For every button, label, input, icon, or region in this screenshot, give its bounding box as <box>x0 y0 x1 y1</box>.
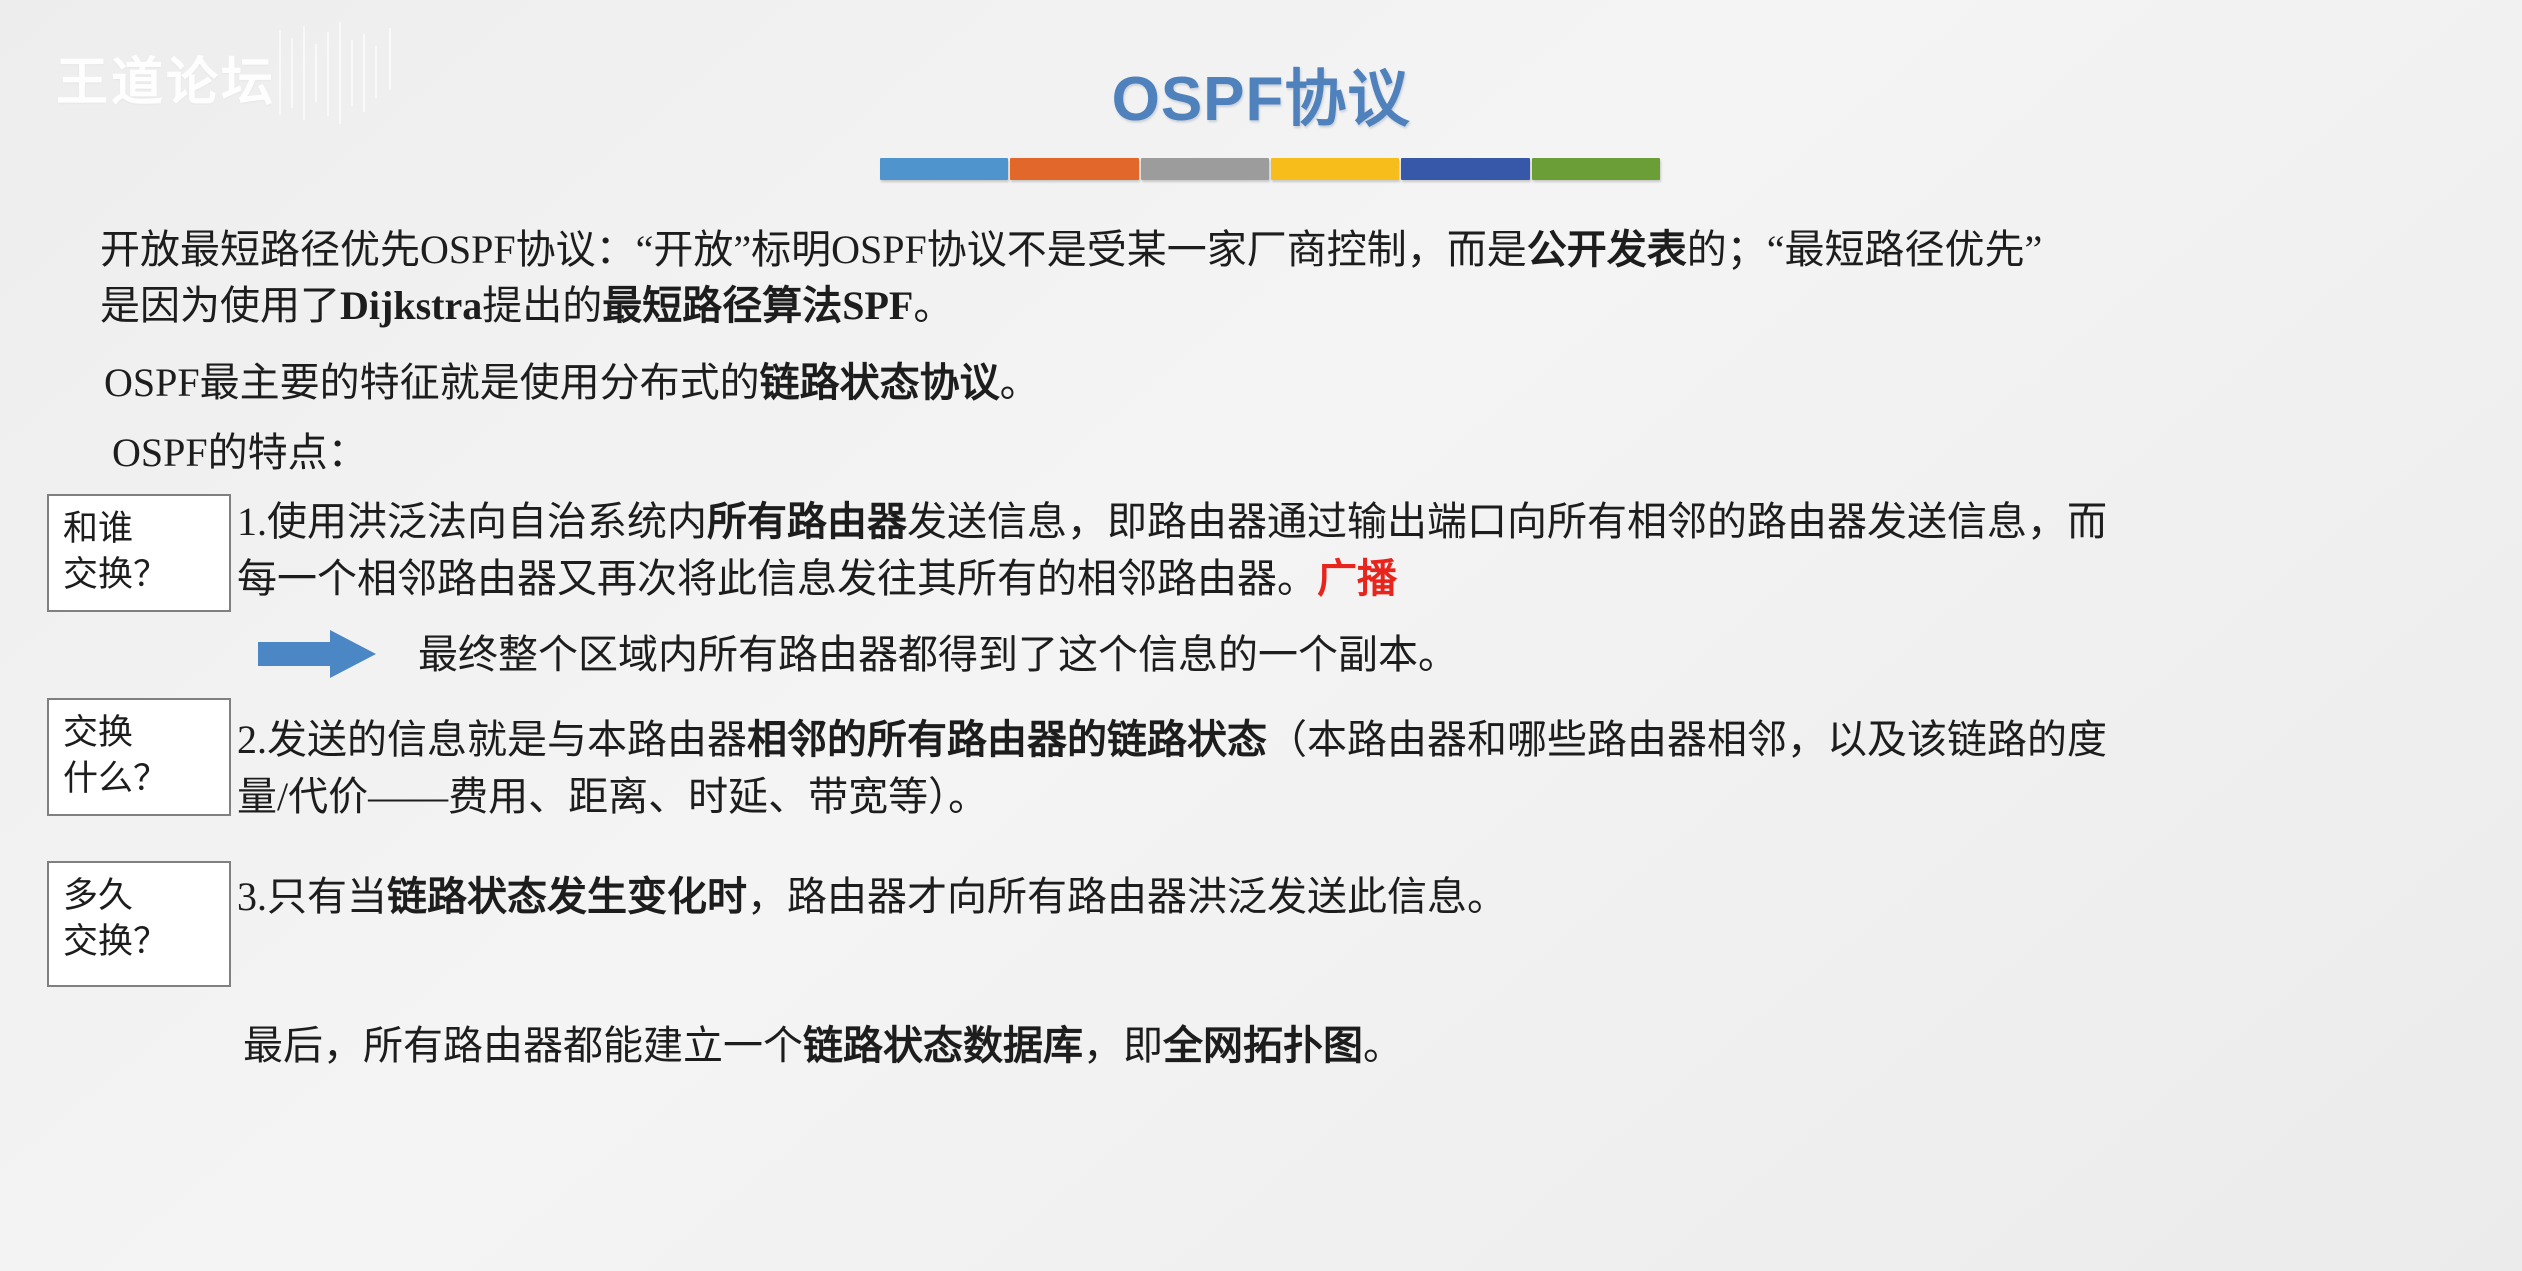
intro-line-1-part-a: 开放最短路径优先OSPF协议：“开放”标明OSPF协议不是受某一家厂商控制，而是 <box>100 227 1527 272</box>
intro-line-3-part-b: 。 <box>1000 360 1040 405</box>
point-3-line-1-part-b: ，路由器才向所有路由器洪泛发送此信息。 <box>747 874 1507 919</box>
point-3-number: 3. <box>237 874 267 919</box>
point-3-line-1-bold: 链路状态发生变化时 <box>387 874 747 919</box>
question-box-when-line-1: 多久 <box>63 873 217 919</box>
question-box-when: 多久 交换？ <box>47 861 231 987</box>
conclusion-bold-topology: 全网拓扑图 <box>1163 1023 1363 1068</box>
intro-line-3: OSPF最主要的特征就是使用分布式的链路状态协议。 <box>104 355 1040 412</box>
question-box-who: 和谁 交换？ <box>47 494 231 612</box>
point-1-highlight-broadcast: 广播 <box>1317 556 1397 601</box>
intro-line-2-bold-spf: 最短路径算法SPF <box>602 283 913 328</box>
question-box-who-line-1: 和谁 <box>63 506 217 552</box>
point-1-line-1-part-a: 使用洪泛法向自治系统内 <box>267 499 707 544</box>
title-bar-1 <box>880 158 1008 180</box>
point-1-line-2-part-a: 每一个相邻路由器又再次将此信息发往其所有的相邻路由器。 <box>237 556 1317 601</box>
question-box-what-line-1: 交换 <box>63 710 217 756</box>
point-1-number: 1. <box>237 499 267 544</box>
point-3-line-1: 3.只有当链路状态发生变化时，路由器才向所有路由器洪泛发送此信息。 <box>237 869 1507 926</box>
intro-line-1-part-b: 的；“最短路径优先” <box>1687 227 2043 272</box>
intro-line-1-bold: 公开发表 <box>1527 227 1687 272</box>
point-1-line-2: 每一个相邻路由器又再次将此信息发往其所有的相邻路由器。广播 <box>237 551 1397 608</box>
title-bar-4 <box>1271 158 1399 180</box>
point-1-line-1-part-b: 发送信息，即路由器通过输出端口向所有相邻的路由器发送信息，而 <box>907 499 2107 544</box>
intro-line-2-part-c: 。 <box>913 283 953 328</box>
intro-line-2-bold-dijkstra: Dijkstra <box>340 283 482 328</box>
intro-line-1: 开放最短路径优先OSPF协议：“开放”标明OSPF协议不是受某一家厂商控制，而是… <box>100 222 2042 279</box>
point-2-line-1-part-a: 发送的信息就是与本路由器 <box>267 717 747 762</box>
point-2-line-1-part-b: （本路由器和哪些路由器相邻，以及该链路的度 <box>1267 717 2107 762</box>
intro-line-3-part-a: OSPF最主要的特征就是使用分布式的 <box>104 360 760 405</box>
slide-canvas: 王道论坛 OSPF协议 开放最短路径优先OSPF协议：“开放”标明OSPF协议不… <box>0 0 2522 1271</box>
point-1-line-1-bold: 所有路由器 <box>707 499 907 544</box>
intro-line-2-part-a: 是因为使用了 <box>100 283 340 328</box>
conclusion-part-c: 。 <box>1363 1023 1403 1068</box>
intro-line-3-bold: 链路状态协议 <box>760 360 1000 405</box>
arrow-note-text: 最终整个区域内所有路由器都得到了这个信息的一个副本。 <box>418 627 1458 684</box>
question-box-when-line-2: 交换？ <box>63 919 217 965</box>
point-2-line-1-bold: 相邻的所有路由器的链路状态 <box>747 717 1267 762</box>
point-2-line-1: 2.发送的信息就是与本路由器相邻的所有路由器的链路状态（本路由器和哪些路由器相邻… <box>237 712 2107 769</box>
point-3-line-1-part-a: 只有当 <box>267 874 387 919</box>
question-box-what-line-2: 什么？ <box>63 756 217 802</box>
point-2-line-2: 量/代价——费用、距离、时延、带宽等）。 <box>237 769 988 826</box>
title-bar-6 <box>1532 158 1660 180</box>
title-decorative-bars <box>880 158 1660 180</box>
title-bar-2 <box>1010 158 1138 180</box>
page-title: OSPF协议 <box>0 48 2522 138</box>
intro-line-4: OSPF的特点： <box>112 425 368 482</box>
question-box-what: 交换 什么？ <box>47 698 231 816</box>
conclusion-part-a: 最后，所有路由器都能建立一个 <box>243 1023 803 1068</box>
title-bar-5 <box>1401 158 1529 180</box>
intro-line-2: 是因为使用了Dijkstra提出的最短路径算法SPF。 <box>100 278 953 335</box>
conclusion-part-b: ，即 <box>1083 1023 1163 1068</box>
point-1-line-1: 1.使用洪泛法向自治系统内所有路由器发送信息，即路由器通过输出端口向所有相邻的路… <box>237 494 2107 551</box>
conclusion-line: 最后，所有路由器都能建立一个链路状态数据库，即全网拓扑图。 <box>243 1018 1403 1075</box>
intro-line-2-part-b: 提出的 <box>482 283 602 328</box>
question-box-who-line-2: 交换？ <box>63 552 217 598</box>
title-bar-3 <box>1141 158 1269 180</box>
flow-arrow-icon <box>258 628 376 680</box>
point-2-number: 2. <box>237 717 267 762</box>
conclusion-bold-database: 链路状态数据库 <box>803 1023 1083 1068</box>
